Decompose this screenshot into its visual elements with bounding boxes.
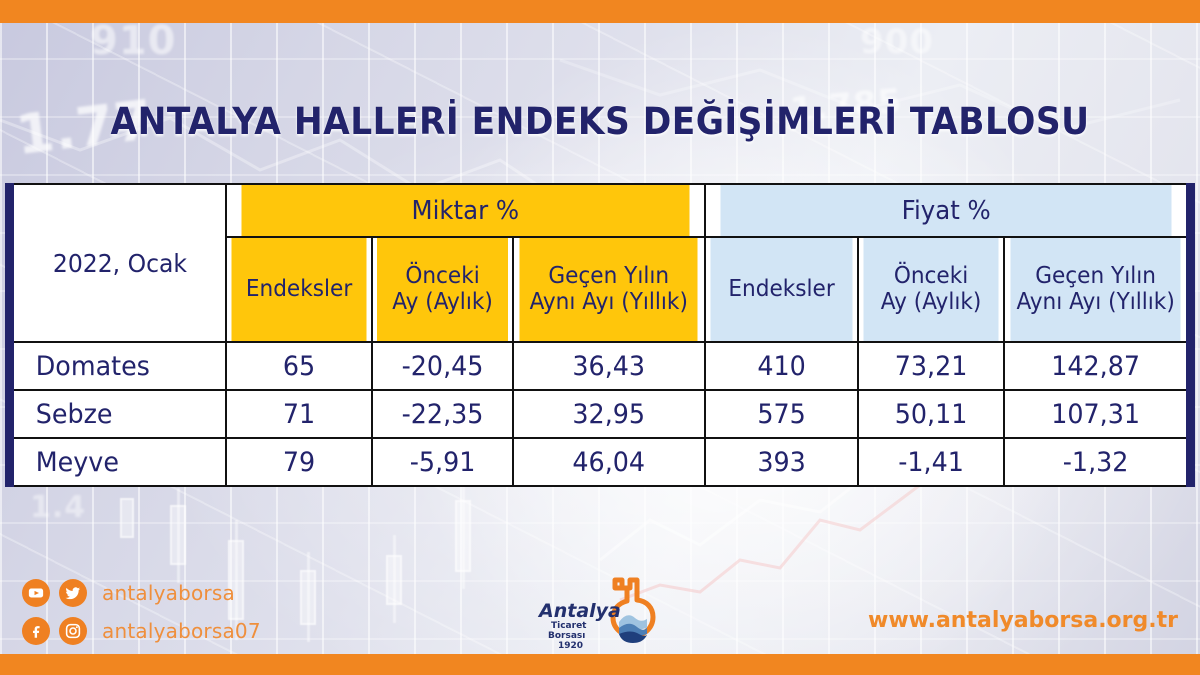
cell: 32,95 [519, 390, 699, 438]
subheader-miktar-endeksler: Endeksler [231, 237, 368, 342]
table-row: Domates 65 -20,45 36,43 410 73,21 142,87 [10, 342, 1191, 390]
period-label: 2022, Ocak [16, 184, 220, 342]
subheader-miktar-gecen-yil: Geçen Yılın Aynı Ayı (Yıllık) [519, 237, 699, 342]
subheader-line1: Geçen Yılın [522, 264, 696, 290]
cell: 107,31 [1010, 390, 1185, 438]
antalya-ticaret-borsasi-logo: Antalya Ticaret Borsası 1920 [527, 570, 687, 650]
subheader-line2: Endeksler [233, 277, 365, 303]
page-title: ANTALYA HALLERİ ENDEKS DEĞİŞİMLERİ TABLO… [42, 100, 1158, 143]
index-changes-table-container: 2022, Ocak Miktar % Fiyat % Endeksler Ön… [5, 183, 1195, 487]
subheader-fiyat-onceki-ay: Önceki Ay (Aylık) [862, 237, 999, 342]
logo-wordmark: Antalya [537, 600, 621, 622]
row-label: Sebze [16, 390, 220, 438]
cell: 410 [709, 342, 853, 390]
table-header-group-row: 2022, Ocak Miktar % Fiyat % [10, 184, 1191, 237]
group-header-miktar: Miktar % [240, 184, 690, 237]
subheader-line1: Önceki [865, 264, 997, 290]
table-row: Meyve 79 -5,91 46,04 393 -1,41 -1,32 [10, 438, 1191, 486]
cell: 73,21 [862, 342, 999, 390]
youtube-icon[interactable] [22, 579, 50, 607]
cell: 36,43 [519, 342, 699, 390]
social-row-bottom: antalyaborsa07 [22, 614, 261, 648]
subheader-fiyat-gecen-yil: Geçen Yılın Aynı Ayı (Yıllık) [1010, 237, 1185, 342]
row-label: Domates [16, 342, 220, 390]
logo-line-year: 1920 [558, 641, 583, 650]
logo-line-borsasi: Borsası [548, 631, 585, 641]
cell: -1,32 [1010, 438, 1185, 486]
cell: 79 [231, 438, 368, 486]
subheader-line1: Geçen Yılın [1012, 264, 1178, 290]
subheader-line1: Önceki [379, 264, 506, 290]
table-row: Sebze 71 -22,35 32,95 575 50,11 107,31 [10, 390, 1191, 438]
cell: -20,45 [376, 342, 509, 390]
facebook-icon[interactable] [22, 617, 50, 645]
cell: -1,41 [862, 438, 999, 486]
cell: 142,87 [1010, 342, 1185, 390]
website-url[interactable]: www.antalyaborsa.org.tr [868, 608, 1178, 633]
social-handle-bottom[interactable]: antalyaborsa07 [102, 619, 261, 643]
subheader-miktar-onceki-ay: Önceki Ay (Aylık) [376, 237, 509, 342]
bottom-orange-bar [0, 654, 1200, 675]
subheader-line2: Endeksler [712, 277, 850, 303]
subheader-line2: Aynı Ayı (Yıllık) [522, 290, 696, 316]
cell: 575 [709, 390, 853, 438]
cell: -22,35 [376, 390, 509, 438]
social-handle-top[interactable]: antalyaborsa [102, 581, 235, 605]
subheader-line2: Ay (Aylık) [379, 290, 506, 316]
logo-line-ticaret: Ticaret [551, 621, 587, 631]
cell: -5,91 [376, 438, 509, 486]
social-links: antalyaborsa antalyaborsa07 [22, 576, 261, 652]
subheader-line2: Aynı Ayı (Yıllık) [1012, 290, 1178, 316]
group-header-fiyat: Fiyat % [719, 184, 1176, 237]
cell: 46,04 [519, 438, 699, 486]
subheader-fiyat-endeksler: Endeksler [709, 237, 853, 342]
social-row-top: antalyaborsa [22, 576, 261, 610]
footer: antalyaborsa antalyaborsa07 [0, 560, 1200, 655]
top-orange-bar [0, 0, 1200, 23]
twitter-icon[interactable] [59, 579, 87, 607]
cell: 50,11 [862, 390, 999, 438]
cell: 65 [231, 342, 368, 390]
instagram-icon[interactable] [59, 617, 87, 645]
index-changes-table: 2022, Ocak Miktar % Fiyat % Endeksler Ön… [5, 183, 1195, 487]
row-label: Meyve [16, 438, 220, 486]
cell: 71 [231, 390, 368, 438]
subheader-line2: Ay (Aylık) [865, 290, 997, 316]
cell: 393 [709, 438, 853, 486]
